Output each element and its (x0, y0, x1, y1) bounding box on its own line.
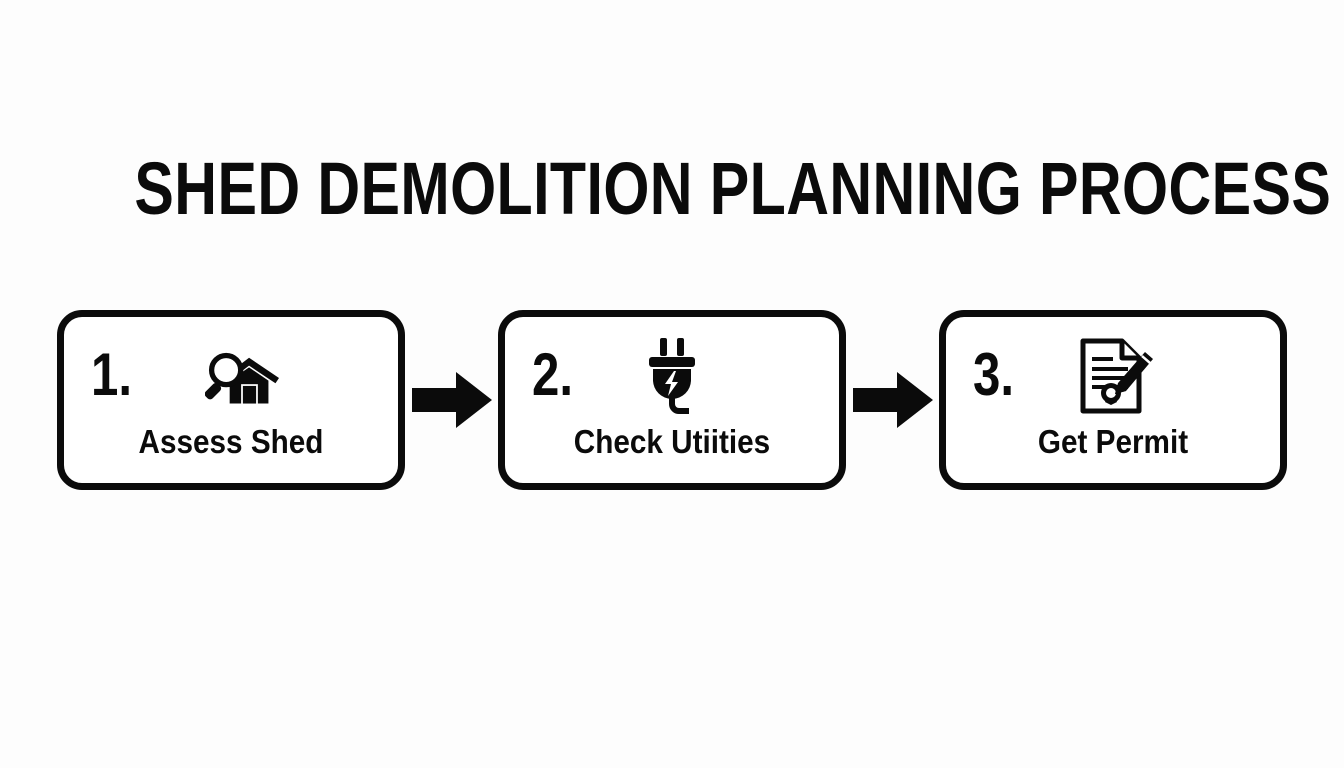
step-number-3: 3. (973, 345, 1014, 405)
arrow-right-icon (853, 370, 933, 430)
step-card-2[interactable]: 2. Check Utiities (498, 310, 846, 490)
connector-arrow-2 (852, 369, 934, 431)
process-flow: 1. Assess Shed (57, 310, 1287, 490)
step-number-2: 2. (532, 345, 573, 405)
step-card-3[interactable]: 3. (939, 310, 1287, 490)
step-icon-3 (1065, 335, 1161, 415)
step-label-3: Get Permit (963, 424, 1264, 460)
step-card-1[interactable]: 1. Assess Shed (57, 310, 405, 490)
infographic-canvas: SHED DEMOLITION PLANNING PROCESS 1. (0, 0, 1344, 768)
arrow-right-icon (412, 370, 492, 430)
step-icon-1 (183, 335, 279, 415)
step-icon-2 (624, 335, 720, 415)
step-number-1: 1. (91, 345, 132, 405)
step-label-1: Assess Shed (81, 424, 382, 460)
step-label-2: Check Utiities (522, 424, 823, 460)
page-title: SHED DEMOLITION PLANNING PROCESS (134, 146, 1209, 232)
connector-arrow-1 (411, 369, 493, 431)
